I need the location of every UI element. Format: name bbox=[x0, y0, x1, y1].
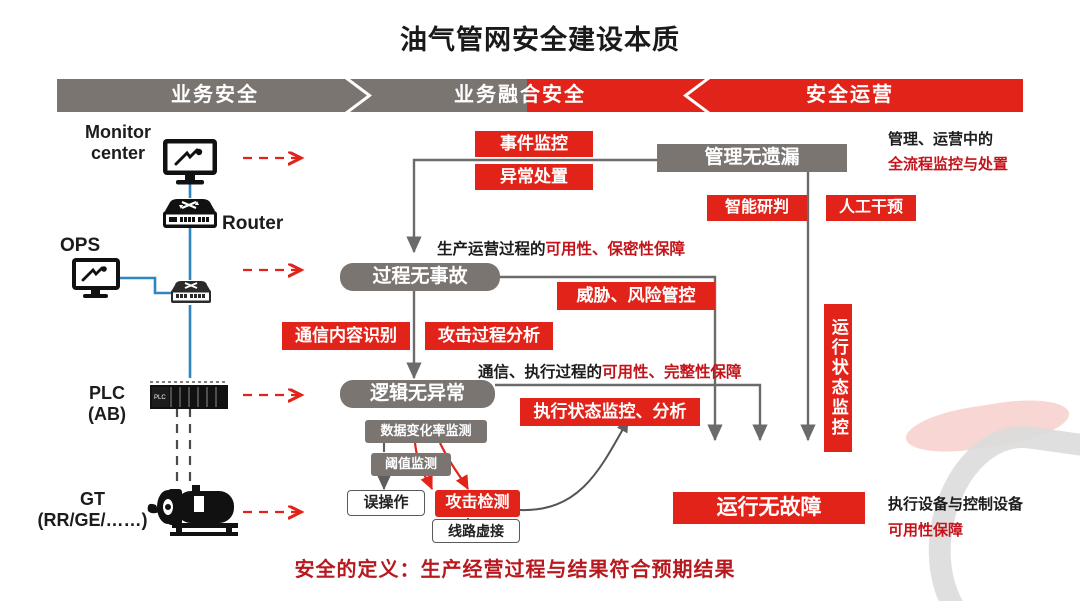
annotation-mid2-emph: 可用性、完整性保障 bbox=[602, 364, 742, 381]
box-manual-intervention[interactable]: 人工干预 bbox=[826, 195, 916, 221]
annotation-mid1-prefix: 生产运营过程的 bbox=[437, 241, 546, 258]
box-event-monitor[interactable]: 事件监控 bbox=[475, 131, 593, 157]
box-management-no-omission[interactable]: 管理无遗漏 bbox=[657, 144, 847, 172]
banner-segment-security-operation: 安全运营 bbox=[740, 80, 960, 111]
annotation-right-top-line2: 全流程监控与处置 bbox=[888, 153, 1008, 178]
box-line-virtual-connection[interactable]: 线路虚接 bbox=[432, 519, 520, 543]
ops-label: OPS bbox=[60, 235, 140, 257]
router-label: Router bbox=[222, 213, 312, 235]
watermark-red-stroke bbox=[903, 392, 1073, 459]
box-threshold-monitor[interactable]: 阈值监测 bbox=[371, 453, 451, 476]
svg-text:PLC: PLC bbox=[154, 395, 166, 401]
annotation-mid2-prefix: 通信、执行过程的 bbox=[478, 364, 602, 381]
footer-definition: 安全的定义：生产经营过程与结果符合预期结果 bbox=[0, 553, 1030, 582]
box-logic-no-anomaly[interactable]: 逻辑无异常 bbox=[340, 380, 495, 408]
banner-segment-business-convergence-security: 业务融合安全 bbox=[420, 80, 620, 111]
box-operation-no-fault[interactable]: 运行无故障 bbox=[673, 492, 865, 524]
monitor-center-label: Monitor center bbox=[68, 122, 168, 164]
diagram-canvas: 油气管网安全建设本质 业务安全 业务融合安全 安全运营 bbox=[0, 0, 1080, 601]
box-running-state-monitor[interactable]: 运行状态监控 bbox=[824, 304, 852, 452]
page-title: 油气管网安全建设本质 bbox=[0, 18, 1080, 57]
box-data-change-rate-monitor[interactable]: 数据变化率监测 bbox=[365, 420, 487, 443]
annotation-availability-confidentiality: 生产运营过程的可用性、保密性保障 bbox=[437, 237, 685, 259]
annotation-right-top: 管理、运营中的 全流程监控与处置 bbox=[888, 128, 1008, 178]
box-intelligent-judgment[interactable]: 智能研判 bbox=[707, 195, 807, 221]
box-process-no-accident[interactable]: 过程无事故 bbox=[340, 263, 500, 291]
annotation-right-bottom-line2: 可用性保障 bbox=[888, 518, 1023, 544]
annotation-right-top-line1: 管理、运营中的 bbox=[888, 128, 1008, 153]
box-exec-state-monitor-analysis[interactable]: 执行状态监控、分析 bbox=[520, 398, 700, 426]
annotation-mid1-emph: 可用性、保密性保障 bbox=[546, 241, 686, 258]
banner-segment-business-security: 业务安全 bbox=[120, 80, 310, 111]
gt-label: GT (RR/GE/……) bbox=[30, 489, 155, 531]
box-attack-process-analysis[interactable]: 攻击过程分析 bbox=[425, 322, 553, 350]
box-attack-detection[interactable]: 攻击检测 bbox=[435, 490, 520, 517]
box-exception-handling[interactable]: 异常处置 bbox=[475, 164, 593, 190]
annotation-right-bottom: 执行设备与控制设备 可用性保障 bbox=[888, 492, 1023, 545]
annotation-right-bottom-line1: 执行设备与控制设备 bbox=[888, 492, 1023, 518]
box-misoperation[interactable]: 误操作 bbox=[347, 490, 425, 516]
box-comm-content-recognition[interactable]: 通信内容识别 bbox=[282, 322, 410, 350]
box-threat-risk-control[interactable]: 威胁、风险管控 bbox=[557, 282, 715, 310]
annotation-availability-integrity: 通信、执行过程的可用性、完整性保障 bbox=[478, 360, 742, 382]
plc-label: PLC (AB) bbox=[62, 383, 152, 425]
